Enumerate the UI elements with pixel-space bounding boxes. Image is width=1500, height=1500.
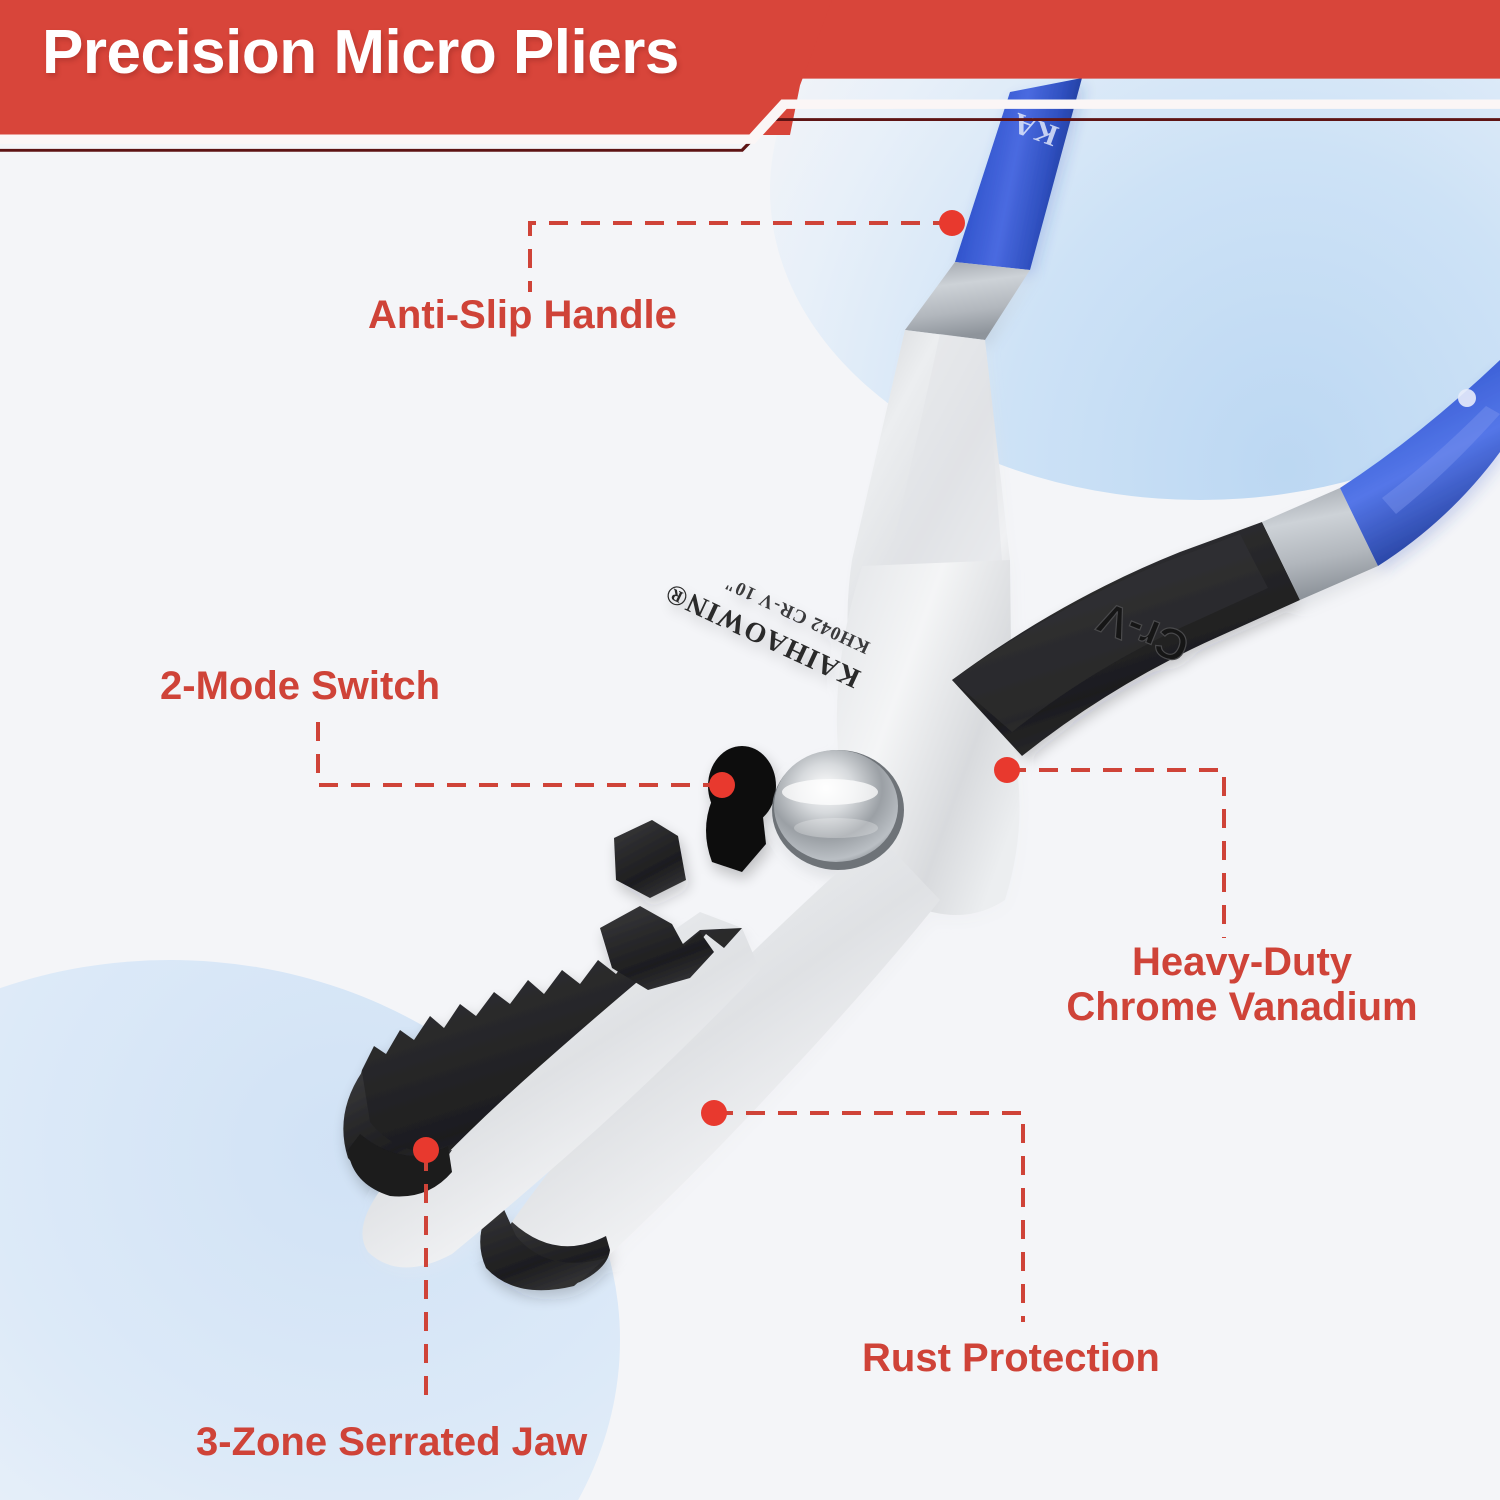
callout-label-anti-slip-handle: Anti-Slip Handle [368,293,677,338]
callout-label-3-zone-serrated-jaw: 3-Zone Serrated Jaw [196,1420,587,1465]
infographic-canvas: KAIHAOWIN® KH042 CR-V 10" Cr-V KA Precis… [0,0,1500,1500]
product-photo-pliers: KAIHAOWIN® KH042 CR-V 10" Cr-V KA [0,0,1500,1500]
page-title: Precision Micro Pliers [42,22,679,84]
product-brand-marking: KAIHAOWIN® KH042 CR-V 10" [660,551,877,694]
callout-label-heavy-duty-chrome-vanadium: Heavy-Duty Chrome Vanadium [1032,940,1452,1030]
callout-label-two-mode-switch: 2-Mode Switch [160,664,440,709]
callout-label-rust-protection: Rust Protection [862,1336,1160,1381]
